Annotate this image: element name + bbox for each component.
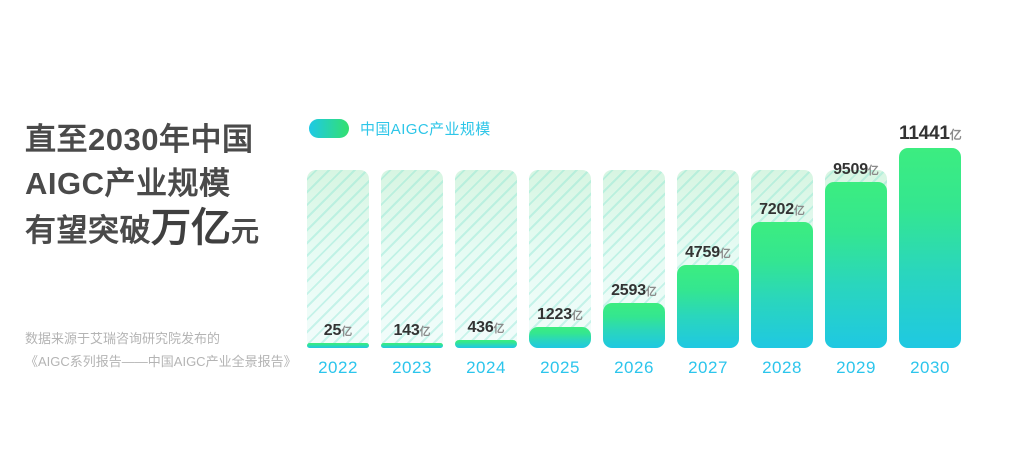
bar-fill[interactable]: [529, 327, 591, 348]
headline-line-3: 有望突破万亿元: [25, 206, 295, 254]
page-title: 直至2030年中国 AIGC产业规模 有望突破万亿元: [25, 118, 295, 254]
bar-value-unit: 亿: [646, 286, 657, 298]
headline-line-3-suffix: 元: [231, 216, 260, 247]
source-line-2: 《AIGC系列报告——中国AIGC产业全景报告》: [25, 350, 315, 373]
bar-value-number: 1223: [537, 306, 572, 323]
bar-value-number: 2593: [611, 282, 646, 299]
bar-group[interactable]: 2593亿2026: [603, 100, 665, 380]
x-axis-year-label: 2027: [673, 358, 743, 378]
headline-line-2: AIGC产业规模: [25, 162, 295, 206]
bar-group[interactable]: 25亿2022: [307, 100, 369, 380]
bar-group[interactable]: 11441亿2030: [899, 100, 961, 380]
source-note: 数据来源于艾瑞咨询研究院发布的 《AIGC系列报告——中国AIGC产业全景报告》: [25, 327, 315, 373]
bar-value-unit: 亿: [494, 323, 505, 335]
x-axis-year-label: 2030: [895, 358, 965, 378]
bar-fill[interactable]: [307, 343, 369, 348]
bar-value-number: 9509: [833, 161, 868, 178]
bar-group[interactable]: 4759亿2027: [677, 100, 739, 380]
bar-value-label: 143亿: [381, 322, 443, 340]
bar-fill[interactable]: [751, 222, 813, 348]
x-axis-year-label: 2024: [451, 358, 521, 378]
headline-line-3-prefix: 有望突破: [25, 213, 151, 248]
bar-fill[interactable]: [455, 340, 517, 348]
bar-value-unit: 亿: [794, 205, 805, 217]
bar-group[interactable]: 9509亿2029: [825, 100, 887, 380]
bar-value-label: 2593亿: [603, 282, 665, 300]
infographic-root: 直至2030年中国 AIGC产业规模 有望突破万亿元 数据来源于艾瑞咨询研究院发…: [0, 0, 1010, 450]
bar-value-unit: 亿: [950, 128, 962, 142]
bar-value-unit: 亿: [720, 248, 731, 260]
x-axis-year-label: 2023: [377, 358, 447, 378]
bar-group[interactable]: 7202亿2028: [751, 100, 813, 380]
bar-value-number: 25: [324, 322, 341, 339]
bar-fill[interactable]: [381, 343, 443, 348]
bar-value-label: 9509亿: [825, 161, 887, 179]
bar-fill[interactable]: [603, 303, 665, 348]
bar-value-label: 436亿: [455, 319, 517, 337]
bar-value-label: 11441亿: [899, 123, 961, 145]
bar-value-unit: 亿: [420, 326, 431, 338]
bar-fill[interactable]: [825, 182, 887, 348]
bar-value-label: 1223亿: [529, 306, 591, 324]
bar-value-number: 143: [393, 322, 419, 339]
bar-fill[interactable]: [899, 148, 961, 348]
bar-value-number: 11441: [899, 123, 950, 144]
headline-emphasis: 万亿: [151, 206, 231, 250]
bar-group[interactable]: 436亿2024: [455, 100, 517, 380]
bar-value-unit: 亿: [572, 310, 583, 322]
bar-value-number: 4759: [685, 244, 720, 261]
x-axis-year-label: 2026: [599, 358, 669, 378]
bar-group[interactable]: 143亿2023: [381, 100, 443, 380]
bar-fill[interactable]: [677, 265, 739, 348]
bar-value-number: 436: [467, 319, 493, 336]
bar-group[interactable]: 1223亿2025: [529, 100, 591, 380]
headline-line-1: 直至2030年中国: [25, 118, 295, 162]
bar-chart: 25亿2022143亿2023436亿20241223亿20252593亿202…: [307, 100, 987, 380]
x-axis-year-label: 2025: [525, 358, 595, 378]
bar-value-label: 7202亿: [751, 201, 813, 219]
x-axis-year-label: 2028: [747, 358, 817, 378]
x-axis-year-label: 2029: [821, 358, 891, 378]
x-axis-year-label: 2022: [303, 358, 373, 378]
bar-value-label: 4759亿: [677, 244, 739, 262]
source-line-1: 数据来源于艾瑞咨询研究院发布的: [25, 327, 315, 350]
bar-value-unit: 亿: [868, 165, 879, 177]
bar-value-unit: 亿: [341, 326, 352, 338]
bar-value-label: 25亿: [307, 322, 369, 340]
bar-value-number: 7202: [759, 201, 794, 218]
